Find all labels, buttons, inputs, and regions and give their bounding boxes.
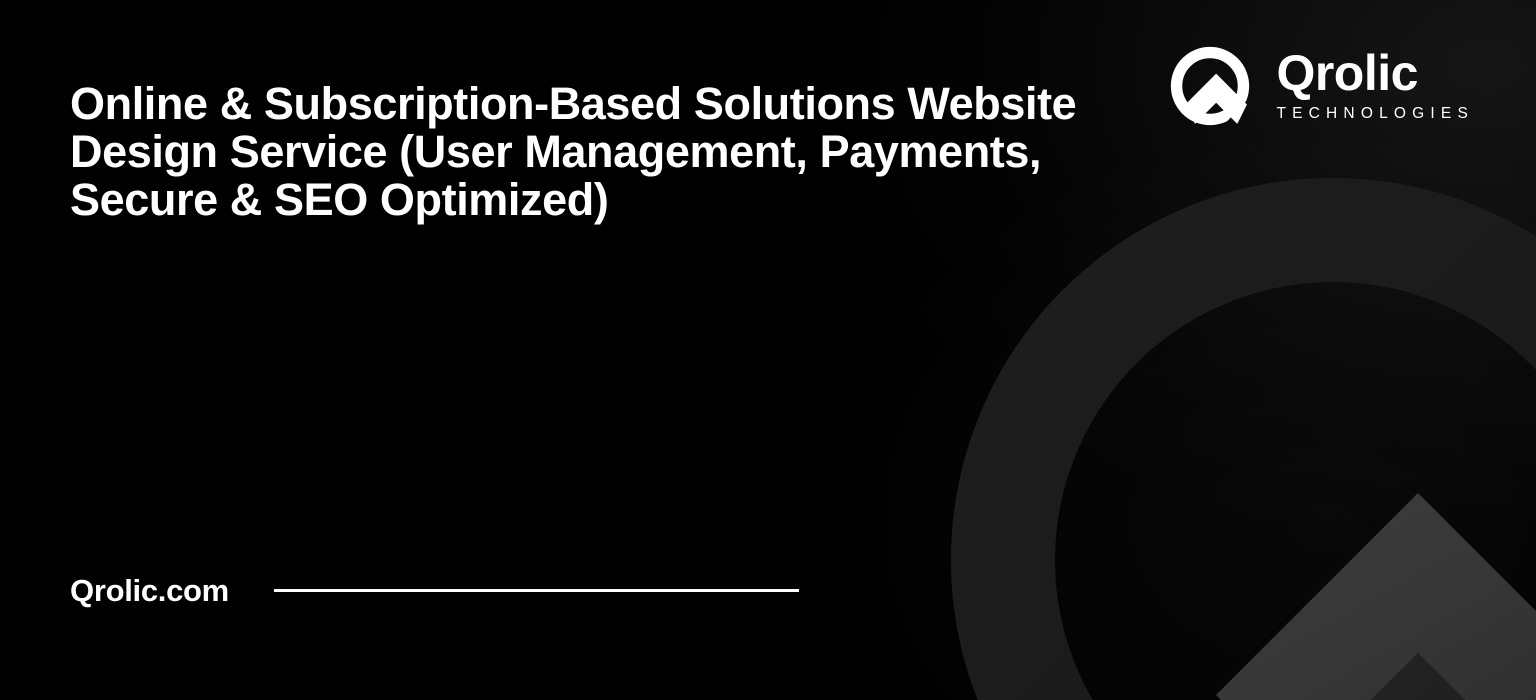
promo-banner: Online & Subscription-Based Solutions We…: [0, 0, 1536, 700]
brand-wordmark: Qrolic: [1276, 49, 1417, 97]
qrolic-q-arrow-icon: [1166, 42, 1254, 130]
footer: Qrolic.com: [70, 575, 799, 606]
footer-website-label: Qrolic.com: [70, 575, 229, 606]
brand-tagline: TECHNOLOGIES: [1276, 106, 1474, 122]
footer-divider-rule: [274, 589, 799, 592]
brand-wordmark-group: Qrolic TECHNOLOGIES: [1276, 49, 1474, 124]
page-title: Online & Subscription-Based Solutions We…: [70, 80, 1100, 224]
brand-logo-lockup: Qrolic TECHNOLOGIES: [1166, 42, 1474, 130]
